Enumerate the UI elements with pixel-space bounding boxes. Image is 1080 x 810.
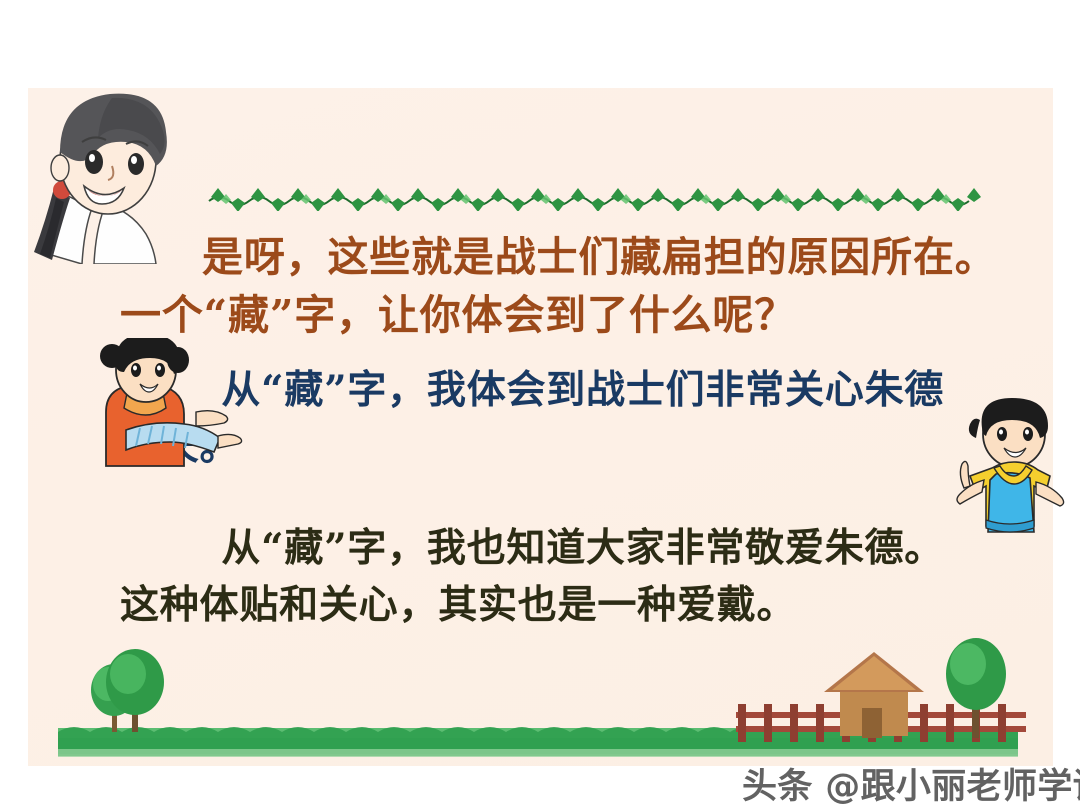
tree-left-small: [91, 664, 137, 732]
fence: [736, 704, 1026, 742]
watermark-text: 头条 @跟小丽老师学语文: [742, 758, 1080, 809]
paragraph-answer-one: 从“藏”字，我体会到战士们非常关心朱德军长。: [120, 362, 955, 475]
paragraph-question: 是呀，这些就是战士们藏扁担的原因所在。一个“藏”字，让你体会到了什么呢？: [120, 228, 1000, 344]
house: [824, 652, 924, 738]
slide-root: 是呀，这些就是战士们藏扁担的原因所在。一个“藏”字，让你体会到了什么呢？ 从“藏…: [0, 0, 1080, 810]
grass-strip: [58, 727, 1018, 757]
paragraph-answer-two: 从“藏”字，我也知道大家非常敬爱朱德。这种体贴和关心，其实也是一种爱戴。: [120, 520, 955, 635]
lesson-text-block: 是呀，这些就是战士们藏扁担的原因所在。一个“藏”字，让你体会到了什么呢？ 从“藏…: [120, 228, 1020, 635]
tree-left-large: [106, 649, 164, 732]
bottom-scenery: [28, 616, 1053, 766]
tree-right: [946, 638, 1006, 738]
